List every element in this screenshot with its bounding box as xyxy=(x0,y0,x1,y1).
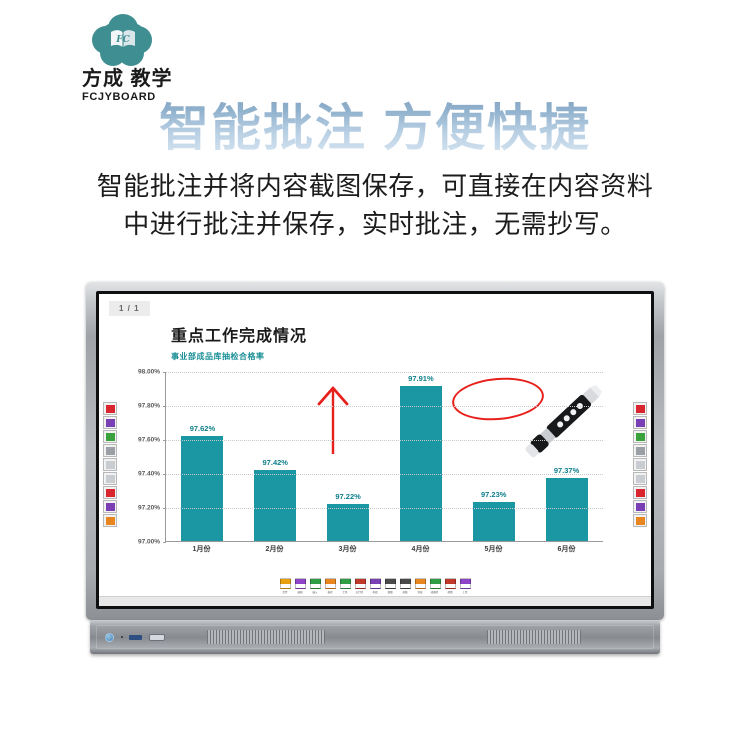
pen-tool-icon xyxy=(636,405,645,413)
chart-grid: 97.62%97.42%97.22%97.91%97.23%97.37% xyxy=(165,372,603,542)
help-button-label: 帮助 xyxy=(447,590,452,593)
help-button[interactable]: 帮助 xyxy=(444,578,456,594)
axis-tick xyxy=(163,440,166,441)
undo-tool[interactable] xyxy=(633,458,647,471)
upload-button-label: 上传 xyxy=(462,590,467,593)
view-button[interactable]: 视图 xyxy=(384,578,396,594)
more-tool-icon xyxy=(636,517,645,525)
x-tick-label: 5月份 xyxy=(463,544,524,554)
whiteboard-screen[interactable]: 1 / 1 重点工作完成情况 事业部成品库抽检合格率 98.00%97.80%9… xyxy=(99,294,651,606)
more-tool-icon xyxy=(106,517,115,525)
marker-tool-icon xyxy=(106,433,115,441)
x-tick-label: 4月份 xyxy=(390,544,451,554)
book-icon: FC xyxy=(109,28,137,50)
layout-button[interactable]: 排版 xyxy=(399,578,411,594)
right-tool-palette[interactable] xyxy=(633,402,647,527)
device-base xyxy=(90,620,660,654)
axis-tick xyxy=(163,542,166,543)
subtitle-line-1: 智能批注并将内容截图保存，可直接在内容资料 xyxy=(0,168,750,206)
animation-icon xyxy=(430,578,441,589)
x-tick-label: 3月份 xyxy=(317,544,378,554)
redo-tool-icon xyxy=(636,475,645,483)
slideshow-button-label: 幻灯片 xyxy=(356,590,364,593)
insert-icon xyxy=(310,578,321,589)
red-up-arrow-annotation xyxy=(316,382,350,456)
bar-value-label: 97.91% xyxy=(408,374,433,383)
status-led-icon xyxy=(121,636,123,638)
highlighter-tool-icon xyxy=(636,419,645,427)
grid-line xyxy=(166,474,603,475)
highlighter-tool[interactable] xyxy=(633,416,647,429)
stylus-pen-icon xyxy=(510,374,614,470)
delete-tool[interactable] xyxy=(103,486,117,499)
tools-button-label: 工具 xyxy=(342,590,347,593)
upload-icon xyxy=(460,578,471,589)
chart-bar xyxy=(327,504,369,541)
marker-tool[interactable] xyxy=(633,430,647,443)
upload-button[interactable]: 上传 xyxy=(459,578,471,594)
file-button[interactable]: 文件 xyxy=(279,578,291,594)
grid-line xyxy=(166,372,603,373)
redo-tool[interactable] xyxy=(103,472,117,485)
bar-column: 97.42% xyxy=(245,372,306,541)
delete-tool-icon xyxy=(106,489,115,497)
y-tick-label: 97.60% xyxy=(138,437,160,444)
undo-tool-icon xyxy=(106,461,115,469)
more-tool[interactable] xyxy=(633,514,647,527)
eraser-tool[interactable] xyxy=(633,444,647,457)
view-icon xyxy=(385,578,396,589)
page-title: 智能批注 方便快捷 xyxy=(0,88,750,160)
y-tick-label: 97.20% xyxy=(138,505,160,512)
marker-tool-icon xyxy=(636,433,645,441)
effects-button-label: 特效 xyxy=(417,590,422,593)
format-icon xyxy=(325,578,336,589)
tools-button[interactable]: 工具 xyxy=(339,578,351,594)
eraser-tool[interactable] xyxy=(103,444,117,457)
insert-button[interactable]: 插入 xyxy=(309,578,321,594)
axis-tick xyxy=(163,508,166,509)
redo-tool-icon xyxy=(106,475,115,483)
file-button-label: 文件 xyxy=(282,590,287,593)
highlighter-tool-icon xyxy=(106,419,115,427)
brand-name-cn: 方成 教学 xyxy=(82,68,208,90)
chart-canvas: 重点工作完成情况 事业部成品库抽检合格率 98.00%97.80%97.60%9… xyxy=(123,322,603,580)
eraser-tool-icon xyxy=(106,447,115,455)
format-button-label: 格式 xyxy=(327,590,332,593)
x-tick-label: 1月份 xyxy=(171,544,232,554)
more-tool[interactable] xyxy=(103,514,117,527)
interactive-whiteboard: 1 / 1 重点工作完成情况 事业部成品库抽检合格率 98.00%97.80%9… xyxy=(86,282,664,660)
layout-button-label: 排版 xyxy=(402,590,407,593)
y-tick-label: 97.40% xyxy=(138,471,160,478)
eraser-tool-icon xyxy=(636,447,645,455)
effects-icon xyxy=(415,578,426,589)
page-subtitle: 智能批注并将内容截图保存，可直接在内容资料 中进行批注并保存，实时批注，无需抄写… xyxy=(0,168,750,243)
axis-tick xyxy=(163,406,166,407)
delete-tool[interactable] xyxy=(633,486,647,499)
bar-value-label: 97.62% xyxy=(190,424,215,433)
y-tick-label: 97.80% xyxy=(138,403,160,410)
axis-tick xyxy=(163,372,166,373)
subtitle-line-2: 中进行批注并保存，实时批注，无需抄写。 xyxy=(0,206,750,244)
status-bar: 未命名 1 xyxy=(99,596,651,606)
palette-tool[interactable] xyxy=(633,500,647,513)
bar-value-label: 97.42% xyxy=(263,458,288,467)
layout-icon xyxy=(400,578,411,589)
palette-tool[interactable] xyxy=(103,500,117,513)
marker-tool[interactable] xyxy=(103,430,117,443)
display-bezel: 1 / 1 重点工作完成情况 事业部成品库抽检合格率 98.00%97.80%9… xyxy=(86,282,664,620)
review-button[interactable]: 审阅 xyxy=(369,578,381,594)
animation-button[interactable]: 动画片 xyxy=(429,578,441,594)
insert-button-label: 插入 xyxy=(312,590,317,593)
grid-line xyxy=(166,406,603,407)
slideshow-button[interactable]: 幻灯片 xyxy=(354,578,366,594)
hdmi-port-icon[interactable] xyxy=(149,634,165,641)
speaker-grille-right xyxy=(487,630,581,644)
chart-subtitle: 事业部成品库抽检合格率 xyxy=(171,351,603,362)
grid-line xyxy=(166,508,603,509)
pen-tool[interactable] xyxy=(633,402,647,415)
power-button-icon[interactable] xyxy=(105,633,114,642)
help-icon xyxy=(445,578,456,589)
usb-port-icon[interactable] xyxy=(129,635,142,640)
speaker-grille-left xyxy=(207,630,325,644)
bottom-tool-ribbon[interactable]: 文件编辑插入格式工具幻灯片审阅视图排版特效动画片帮助上传 xyxy=(99,578,651,594)
promo-page: FC 方成 教学 FCJYBOARD 智能批注 方便快捷 智能批注并将内容截图保… xyxy=(0,0,750,736)
animation-button-label: 动画片 xyxy=(431,590,439,593)
chart-bar xyxy=(400,386,442,541)
edit-button[interactable]: 编辑 xyxy=(294,578,306,594)
review-icon xyxy=(370,578,381,589)
edit-button-label: 编辑 xyxy=(297,590,302,593)
edit-icon xyxy=(295,578,306,589)
redo-tool[interactable] xyxy=(633,472,647,485)
y-tick-label: 98.00% xyxy=(138,369,160,376)
chart-bar xyxy=(546,478,588,541)
left-tool-palette[interactable] xyxy=(103,402,117,527)
effects-button[interactable]: 特效 xyxy=(414,578,426,594)
slideshow-icon xyxy=(355,578,366,589)
chart-bar xyxy=(254,470,296,541)
chart-plot-area: 98.00%97.80%97.60%97.40%97.20%97.00% 97.… xyxy=(123,372,603,568)
svg-text:FC: FC xyxy=(115,35,130,45)
pen-tool-icon xyxy=(106,405,115,413)
y-axis-labels: 98.00%97.80%97.60%97.40%97.20%97.00% xyxy=(123,372,163,542)
bar-value-label: 97.22% xyxy=(335,492,360,501)
x-tick-label: 6月份 xyxy=(536,544,597,554)
highlighter-tool[interactable] xyxy=(103,416,117,429)
y-tick-label: 97.00% xyxy=(138,539,160,546)
bar-column: 97.62% xyxy=(172,372,233,541)
screen-frame: 1 / 1 重点工作完成情况 事业部成品库抽检合格率 98.00%97.80%9… xyxy=(96,291,654,609)
flower-book-logo-icon: FC xyxy=(92,14,154,66)
bar-value-label: 97.23% xyxy=(481,490,506,499)
grid-line xyxy=(166,440,603,441)
pen-tool[interactable] xyxy=(103,402,117,415)
x-tick-label: 2月份 xyxy=(244,544,305,554)
undo-tool[interactable] xyxy=(103,458,117,471)
chart-bar xyxy=(181,436,223,541)
file-icon xyxy=(280,578,291,589)
undo-tool-icon xyxy=(636,461,645,469)
page-indicator: 1 / 1 xyxy=(109,301,150,316)
axis-tick xyxy=(163,474,166,475)
chart-title: 重点工作完成情况 xyxy=(171,322,603,346)
palette-tool-icon xyxy=(106,503,115,511)
bar-column: 97.91% xyxy=(390,372,451,541)
view-button-label: 视图 xyxy=(387,590,392,593)
delete-tool-icon xyxy=(636,489,645,497)
format-button[interactable]: 格式 xyxy=(324,578,336,594)
x-axis-labels: 1月份2月份3月份4月份5月份6月份 xyxy=(165,544,603,554)
tools-icon xyxy=(340,578,351,589)
review-button-label: 审阅 xyxy=(372,590,377,593)
base-panel xyxy=(96,625,654,649)
palette-tool-icon xyxy=(636,503,645,511)
